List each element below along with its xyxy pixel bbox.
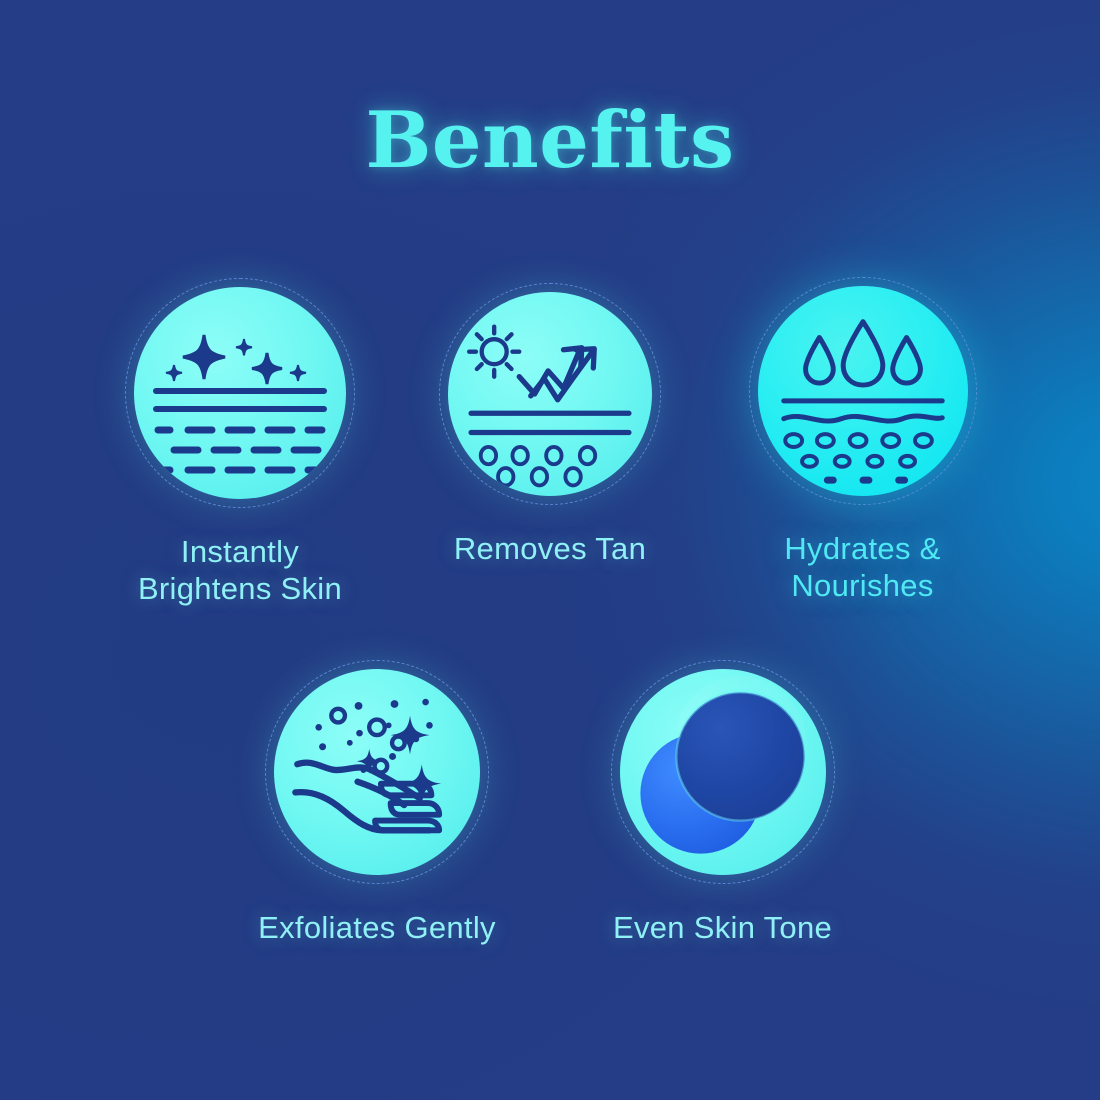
benefit-icon-wrap	[439, 283, 661, 505]
benefit-item-removes-tan[interactable]: Removes Tan	[395, 283, 705, 568]
benefit-icon-wrap	[611, 660, 835, 884]
benefit-item-hydrates-nourishes[interactable]: Hydrates & Nourishes	[710, 277, 1015, 604]
benefit-item-exfoliates-gently[interactable]: Exfoliates Gently	[222, 660, 532, 947]
water-droplets-skin-icon	[758, 286, 968, 496]
benefit-icon-wrap	[265, 660, 489, 884]
sun-arrows-skin-icon	[448, 292, 652, 496]
benefit-icon-wrap	[749, 277, 977, 505]
benefit-label: Removes Tan	[395, 531, 705, 568]
benefit-label: Instantly Brightens Skin	[80, 534, 400, 607]
benefit-item-instantly-brightens-skin[interactable]: Instantly Brightens Skin	[80, 278, 400, 607]
overlapping-circles-icon	[620, 669, 826, 875]
benefits-grid: Instantly Brightens Skin	[0, 0, 1100, 1100]
benefit-label: Hydrates & Nourishes	[710, 531, 1015, 604]
benefit-label: Even Skin Tone	[570, 910, 875, 947]
hand-sparkles-icon	[274, 669, 480, 875]
sparkles-skin-layers-icon	[134, 287, 346, 499]
benefit-icon-wrap	[125, 278, 355, 508]
benefit-item-even-skin-tone[interactable]: Even Skin Tone	[570, 660, 875, 947]
benefit-label: Exfoliates Gently	[222, 910, 532, 947]
